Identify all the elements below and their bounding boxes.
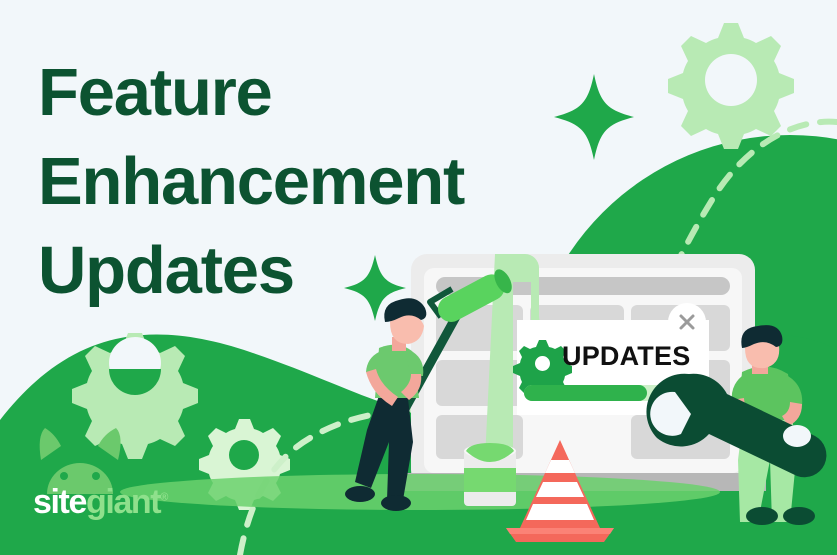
banner-canvas: Feature Enhancement Updates UPDATES site… (0, 0, 837, 555)
progress-fill (524, 385, 647, 401)
logo-site-text: site (33, 483, 86, 521)
paint-bucket-icon (464, 443, 516, 506)
ground-shadow (120, 474, 720, 510)
gear-icon-left (72, 333, 198, 459)
sitegiant-logo: sitegiant® (33, 485, 168, 519)
banner-illustration (0, 0, 837, 555)
logo-trademark: ® (160, 492, 168, 504)
gear-icon-top-right (668, 23, 794, 149)
logo-giant-text: giant (86, 483, 160, 521)
close-button[interactable] (668, 303, 706, 341)
updates-card-title: UPDATES (562, 341, 690, 372)
